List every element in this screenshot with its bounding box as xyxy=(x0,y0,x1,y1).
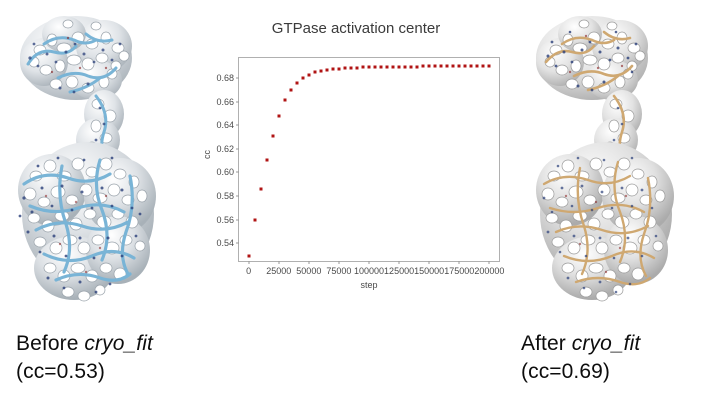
data-point xyxy=(289,88,292,91)
data-point xyxy=(283,99,286,102)
data-point xyxy=(422,65,425,68)
x-tick-label: 75000 xyxy=(326,266,351,276)
y-tick-label: 0.68 xyxy=(216,73,234,83)
data-point xyxy=(482,65,485,68)
data-point xyxy=(386,65,389,68)
data-point xyxy=(476,65,479,68)
data-point xyxy=(368,66,371,69)
data-point xyxy=(458,65,461,68)
data-point xyxy=(337,67,340,70)
data-point xyxy=(349,66,352,69)
data-point xyxy=(259,188,262,191)
x-tick-mark xyxy=(369,261,370,264)
structure-image-after xyxy=(516,0,716,320)
x-tick-label: 200000 xyxy=(474,266,504,276)
x-tick-mark xyxy=(278,261,279,264)
data-point xyxy=(440,65,443,68)
data-point xyxy=(343,67,346,70)
x-axis-label: step xyxy=(238,280,500,290)
plot-area: 0.540.560.580.600.620.640.660.6802500050… xyxy=(238,57,500,262)
caption-before: Before cryo_fit (cc=0.53) xyxy=(16,330,153,386)
data-point xyxy=(374,66,377,69)
data-point xyxy=(247,255,250,258)
x-tick-mark xyxy=(429,261,430,264)
y-tick-mark xyxy=(236,243,239,244)
structure-image-before xyxy=(0,0,200,320)
caption-before-program: cryo_fit xyxy=(84,332,153,355)
x-tick-mark xyxy=(308,261,309,264)
data-point xyxy=(416,65,419,68)
data-point xyxy=(410,65,413,68)
x-tick-mark xyxy=(399,261,400,264)
density-large-lobe-before xyxy=(18,142,156,301)
caption-after: After cryo_fit (cc=0.69) xyxy=(521,330,640,386)
data-point xyxy=(452,65,455,68)
y-tick-label: 0.66 xyxy=(216,97,234,107)
data-point xyxy=(319,69,322,72)
data-point xyxy=(265,158,268,161)
y-tick-mark xyxy=(236,219,239,220)
y-tick-label: 0.54 xyxy=(216,238,234,248)
y-tick-label: 0.58 xyxy=(216,191,234,201)
data-point xyxy=(295,81,298,84)
data-point xyxy=(446,65,449,68)
data-point xyxy=(434,65,437,68)
data-point xyxy=(325,68,328,71)
x-tick-label: 150000 xyxy=(414,266,444,276)
data-point xyxy=(301,77,304,80)
data-point xyxy=(277,114,280,117)
data-point xyxy=(331,68,334,71)
caption-after-program: cryo_fit xyxy=(572,332,641,355)
data-point xyxy=(355,66,358,69)
x-tick-label: 50000 xyxy=(296,266,321,276)
caption-after-prefix: After xyxy=(521,332,572,355)
caption-before-prefix: Before xyxy=(16,332,84,355)
y-tick-label: 0.62 xyxy=(216,144,234,154)
y-tick-mark xyxy=(236,125,239,126)
density-small-lobe-before xyxy=(20,16,132,100)
data-point xyxy=(392,65,395,68)
data-point xyxy=(470,65,473,68)
y-axis-label: cc xyxy=(202,150,212,159)
x-tick-label: 25000 xyxy=(266,266,291,276)
data-point xyxy=(404,65,407,68)
data-point xyxy=(307,73,310,76)
after-structure-svg xyxy=(516,0,716,320)
data-point xyxy=(271,134,274,137)
data-point xyxy=(313,71,316,74)
y-tick-label: 0.64 xyxy=(216,120,234,130)
data-point xyxy=(428,65,431,68)
y-tick-label: 0.56 xyxy=(216,215,234,225)
x-tick-mark xyxy=(248,261,249,264)
y-tick-mark xyxy=(236,172,239,173)
density-large-lobe-after xyxy=(536,142,674,301)
caption-before-cc: (cc=0.53) xyxy=(16,358,153,386)
x-tick-label: 100000 xyxy=(354,266,384,276)
data-point xyxy=(398,65,401,68)
chart-title: GTPase activation center xyxy=(200,20,512,37)
x-tick-mark xyxy=(489,261,490,264)
before-structure-svg xyxy=(0,0,200,320)
data-point xyxy=(253,218,256,221)
caption-after-cc: (cc=0.69) xyxy=(521,358,640,386)
y-tick-label: 0.60 xyxy=(216,167,234,177)
y-tick-mark xyxy=(236,78,239,79)
x-tick-label: 0 xyxy=(246,266,251,276)
data-point xyxy=(464,65,467,68)
density-small-lobe-after xyxy=(536,16,648,100)
y-tick-mark xyxy=(236,196,239,197)
y-tick-mark xyxy=(236,101,239,102)
data-point xyxy=(380,66,383,69)
data-point xyxy=(361,66,364,69)
x-tick-label: 125000 xyxy=(384,266,414,276)
cc-vs-step-chart: GTPase activation center cc 0.540.560.58… xyxy=(200,8,512,300)
x-tick-label: 175000 xyxy=(444,266,474,276)
x-tick-mark xyxy=(338,261,339,264)
y-tick-mark xyxy=(236,148,239,149)
data-point xyxy=(488,65,491,68)
x-tick-mark xyxy=(459,261,460,264)
